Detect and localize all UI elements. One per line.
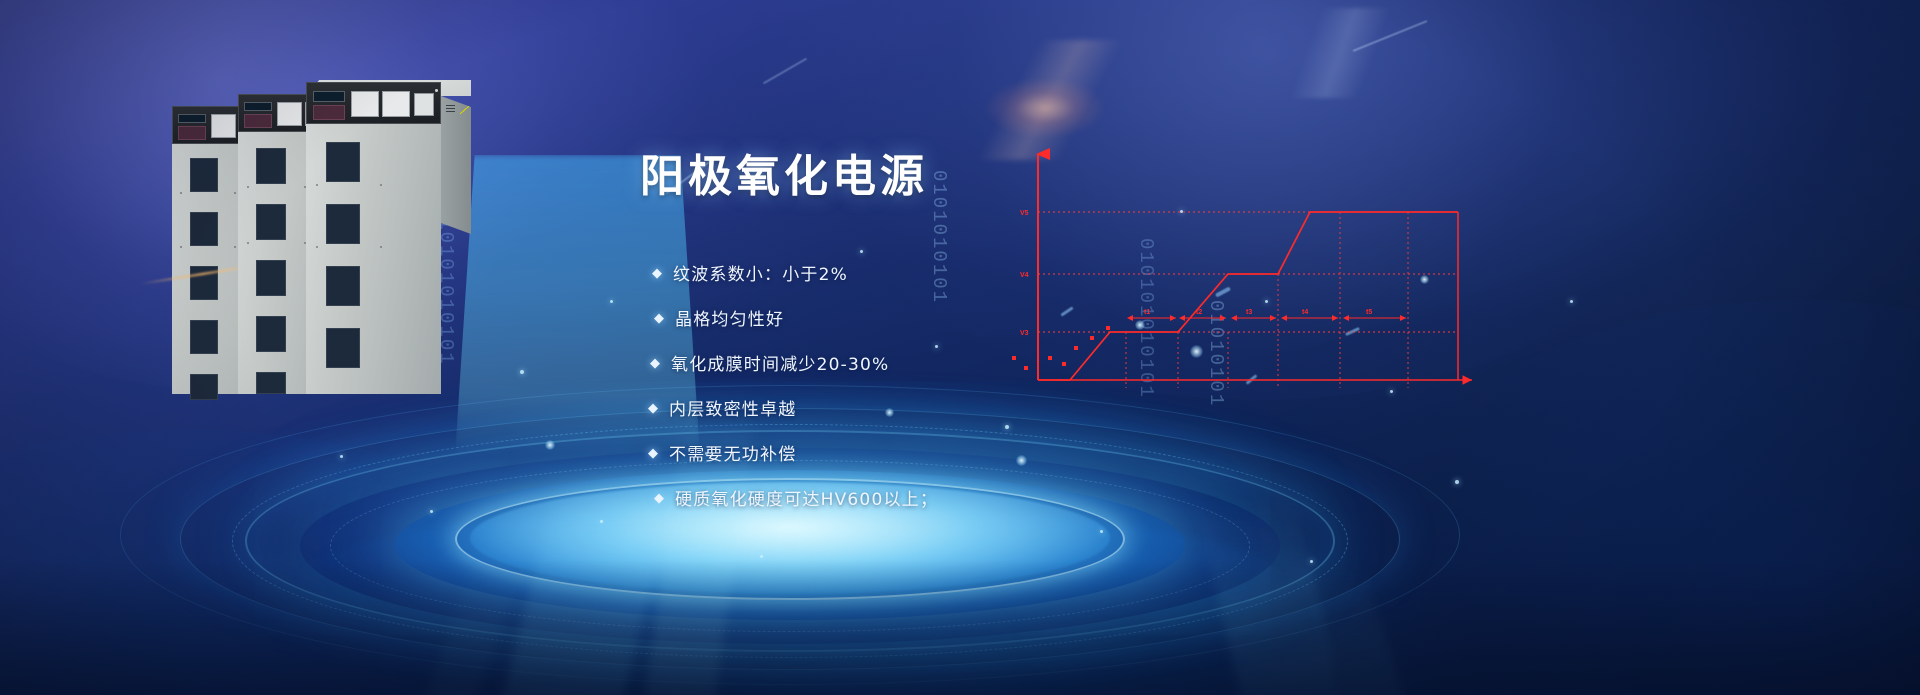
lcd-display-icon: [244, 102, 272, 111]
sparkle-particle: [1570, 300, 1573, 303]
cabinet-vent: [326, 204, 360, 244]
voltage-waveform-diagram: V5 V4 V3 t1: [1010, 140, 1530, 400]
product-banner: 01010101010101 0101010101 010101010101 0…: [0, 0, 1920, 695]
data-point: [1090, 336, 1094, 340]
x-tick-label-t3: t3: [1246, 309, 1252, 316]
equipment-cabinets: [160, 78, 500, 398]
cabinet-vent: [326, 266, 360, 306]
dimension-t1: t1: [1128, 309, 1176, 318]
label-plate: [211, 114, 236, 138]
lcd-display-icon: [313, 91, 345, 102]
feature-text: 不需要无功补偿: [669, 440, 796, 465]
nameplate-icon: [446, 105, 455, 112]
sparkle-particle: [520, 370, 524, 374]
cabinet-vent: [326, 328, 360, 368]
lens-flare-icon: [985, 78, 1105, 138]
lcd-display-icon: [178, 114, 206, 123]
feature-text: 晶格均匀性好: [675, 305, 784, 330]
cabinet-vent: [256, 148, 286, 184]
diamond-bullet-icon: ◆: [648, 445, 658, 461]
feature-item-5: ◆ 不需要无功补偿: [640, 430, 1160, 475]
dimension-t4: t4: [1282, 309, 1338, 318]
x-tick-label-t5: t5: [1366, 309, 1372, 316]
data-point: [1048, 356, 1052, 360]
floor-haze: [0, 560, 1920, 695]
feature-text: 氧化成膜时间减少20-30%: [671, 350, 889, 375]
x-tick-label-t1: t1: [1144, 309, 1150, 316]
label-plate: [277, 102, 302, 126]
dimension-t2: t2: [1180, 309, 1226, 318]
x-tick-label-t2: t2: [1196, 309, 1202, 316]
keypad-icon: [178, 126, 206, 140]
dimension-t5: t5: [1344, 309, 1406, 318]
keypad-icon: [244, 114, 272, 128]
x-tick-label-t4: t4: [1302, 309, 1308, 316]
sparkle-particle: [1100, 530, 1103, 533]
hazard-warning-icon: [460, 106, 469, 114]
cabinet-vent: [326, 142, 360, 182]
feature-item-6: ◆ 硬质氧化硬度可达HV600以上；: [640, 475, 1160, 520]
feature-text: 纹波系数小：小于2%: [673, 260, 848, 285]
cabinet-vent: [190, 374, 218, 400]
data-point: [1012, 356, 1016, 360]
sparkle-particle: [610, 300, 613, 303]
label-plate: [382, 91, 410, 117]
sparkle-particle: [430, 510, 433, 513]
cabinet-right-control-head: [306, 82, 441, 124]
dimension-t3: t3: [1232, 309, 1276, 318]
waveform-svg: V5 V4 V3 t1: [1010, 140, 1510, 400]
keypad-icon: [313, 105, 345, 120]
data-point: [1074, 346, 1078, 350]
sparkle-particle: [340, 455, 343, 458]
feature-text: 硬质氧化硬度可达HV600以上；: [675, 485, 938, 510]
data-point: [1106, 326, 1110, 330]
cabinet-vent: [190, 320, 218, 354]
feature-text: 内层致密性卓越: [669, 395, 796, 420]
sparkle-particle: [760, 555, 763, 558]
cabinet-vent: [256, 316, 286, 352]
breaker-panel-icon: [414, 93, 434, 116]
diamond-bullet-icon: ◆: [654, 490, 664, 506]
sparkle-particle-large: [545, 440, 555, 450]
cabinet-right-body: [306, 124, 441, 394]
data-point: [1062, 362, 1066, 366]
y-tick-label-v3: V3: [1020, 330, 1029, 337]
sparkle-particle: [1455, 480, 1459, 484]
diamond-bullet-icon: ◆: [648, 400, 658, 416]
cabinet-vent: [190, 158, 218, 192]
y-tick-label-v5: V5: [1020, 210, 1029, 217]
cabinet-right-side-face: [441, 96, 471, 234]
label-plate: [351, 91, 379, 117]
cabinet-vent: [256, 372, 286, 394]
diamond-bullet-icon: ◆: [650, 355, 660, 371]
sparkle-particle: [600, 520, 603, 523]
cabinet-vent: [190, 212, 218, 246]
cabinet-vent: [256, 260, 286, 296]
indicator-light-icon: [435, 89, 438, 92]
data-point: [1024, 366, 1028, 370]
lens-flare-streak-secondary: [1180, 8, 1500, 98]
cabinet-vent: [256, 204, 286, 240]
diamond-bullet-icon: ◆: [654, 310, 664, 326]
sparkle-streak: [763, 58, 807, 85]
waveform-staircase: [1038, 212, 1458, 380]
diamond-bullet-icon: ◆: [652, 265, 662, 281]
y-tick-label-v4: V4: [1020, 272, 1029, 279]
